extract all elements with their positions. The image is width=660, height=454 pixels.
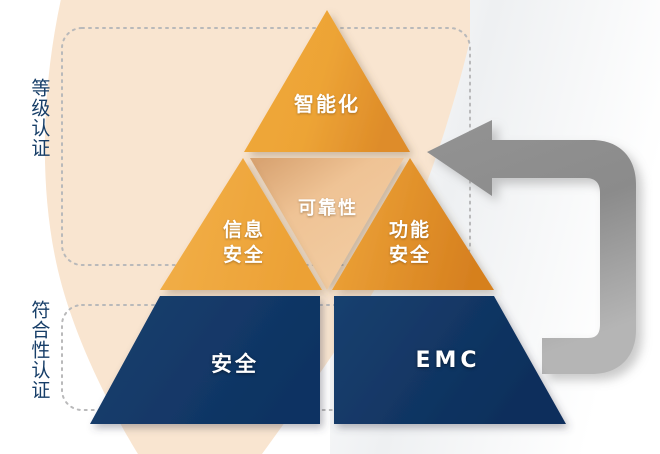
shape-smart[interactable] xyxy=(244,10,410,152)
shape-emc[interactable] xyxy=(334,296,566,424)
pyramid-layer xyxy=(0,0,660,454)
diagram-canvas: 等级认证 符合性认证 智能化 可靠性 信息 安全 功能 安全 安全 EMC xyxy=(0,0,660,454)
shape-safety[interactable] xyxy=(90,296,320,424)
side-label-grade-certification: 等级认证 xyxy=(28,78,50,158)
side-label-compliance-certification: 符合性认证 xyxy=(28,300,50,400)
